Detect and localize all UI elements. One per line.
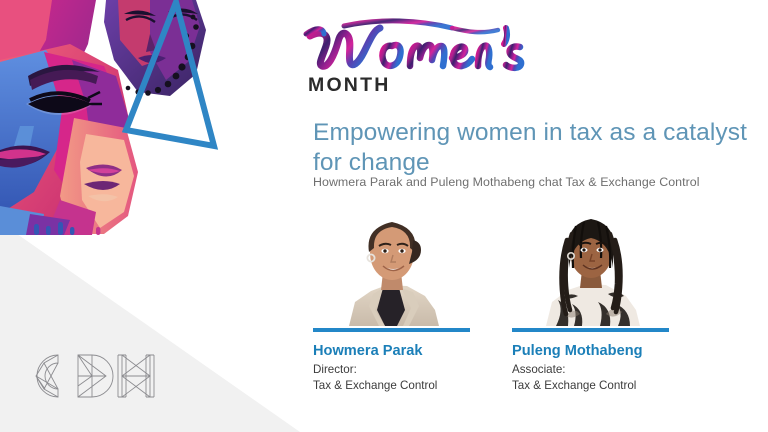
speaker-accent-rule xyxy=(313,328,470,332)
womens-script-wordmark xyxy=(300,16,545,78)
speaker-role: Director: xyxy=(313,362,473,378)
speaker-department: Tax & Exchange Control xyxy=(512,378,672,394)
womens-month-subword: MONTH xyxy=(308,76,391,96)
content-column: MONTH Empowering women in tax as a catal… xyxy=(296,0,768,432)
speaker-card-howmera-parak: Howmera Parak Director: Tax & Exchange C… xyxy=(313,206,473,393)
speaker-role: Associate: xyxy=(512,362,672,378)
page-title: Empowering women in tax as a catalyst fo… xyxy=(313,118,753,178)
cdh-logo: CDH xyxy=(22,345,162,407)
speaker-name: Puleng Mothabeng xyxy=(512,343,672,359)
speaker-department: Tax & Exchange Control xyxy=(313,378,473,394)
speaker-card-puleng-mothabeng: Puleng Mothabeng Associate: Tax & Exchan… xyxy=(512,206,672,393)
speakers-group: Howmera Parak Director: Tax & Exchange C… xyxy=(296,206,768,406)
abstract-womens-faces-artwork xyxy=(0,0,240,235)
slide-canvas: CDH xyxy=(0,0,768,432)
portrait-puleng-mothabeng xyxy=(512,206,669,326)
womens-month-logo: MONTH xyxy=(300,16,550,108)
speaker-accent-rule xyxy=(512,328,669,332)
portrait-howmera-parak xyxy=(313,206,470,326)
speaker-name: Howmera Parak xyxy=(313,343,473,359)
page-subtitle: Howmera Parak and Puleng Mothabeng chat … xyxy=(313,174,763,191)
